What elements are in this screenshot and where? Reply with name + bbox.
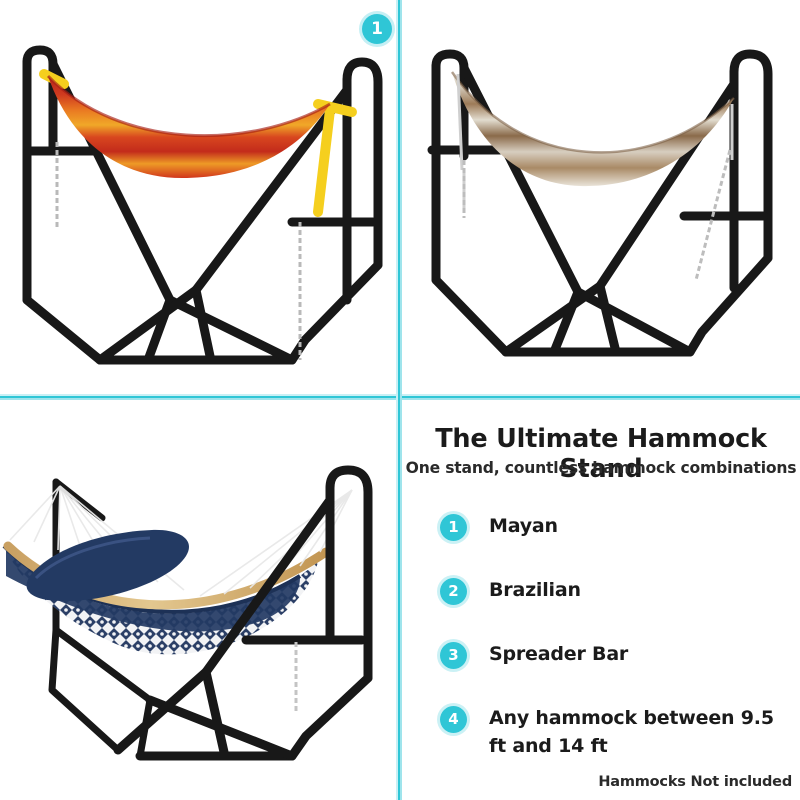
list-item: 1 Mayan <box>440 513 794 541</box>
disclaimer-text: Hammocks Not included <box>598 774 792 790</box>
horizontal-divider <box>0 396 800 398</box>
infographic-board: 1 <box>0 0 800 800</box>
feature-label-any-hammock: Any hammock between 9.5 ft and 14 ft <box>489 705 789 760</box>
feature-badge-1: 1 <box>440 514 467 541</box>
panel-info-text: The Ultimate Hammock Stand One stand, co… <box>402 400 800 800</box>
feature-label-spreader-bar: Spreader Bar <box>489 641 628 669</box>
mayan-hammock-image <box>0 0 398 396</box>
badge-number-1: 1 <box>362 14 392 44</box>
feature-label-mayan: Mayan <box>489 513 558 541</box>
list-item: 4 Any hammock between 9.5 ft and 14 ft <box>440 705 794 760</box>
feature-badge-3: 3 <box>440 642 467 669</box>
page-subtitle: One stand, countless hammock combination… <box>402 459 800 477</box>
list-item: 3 Spreader Bar <box>440 641 794 669</box>
feature-badge-2: 2 <box>440 578 467 605</box>
brazilian-hammock-image <box>402 0 800 396</box>
panel-brazilian-hammock: 2 <box>402 0 800 396</box>
feature-label-brazilian: Brazilian <box>489 577 581 605</box>
list-item: 2 Brazilian <box>440 577 794 605</box>
spreader-bar-hammock-image <box>0 400 398 800</box>
vertical-divider <box>398 0 400 800</box>
panel-spreader-bar-hammock: 3 <box>0 400 398 800</box>
feature-badge-4: 4 <box>440 706 467 733</box>
panel-mayan-hammock: 1 <box>0 0 398 396</box>
feature-list: 1 Mayan 2 Brazilian 3 Spreader Bar 4 Any… <box>440 513 794 796</box>
